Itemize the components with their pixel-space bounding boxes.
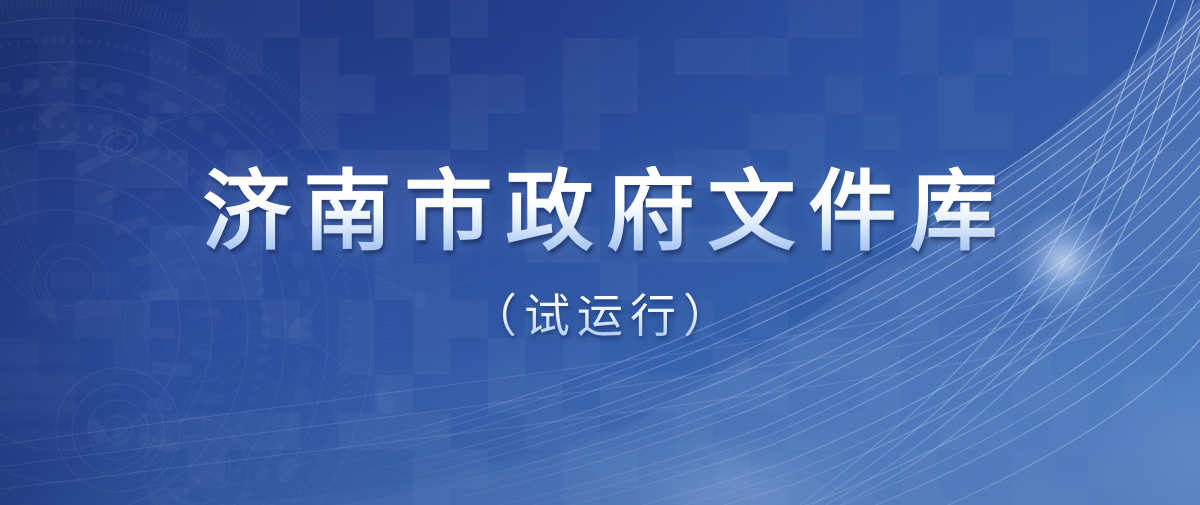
- banner-content: 济南市政府文件库 （试运行）: [0, 0, 1200, 505]
- banner-subtitle: （试运行）: [464, 280, 736, 346]
- banner-title: 济南市政府文件库: [189, 166, 1010, 258]
- government-document-library-banner: 济南市政府文件库 （试运行）: [0, 0, 1200, 505]
